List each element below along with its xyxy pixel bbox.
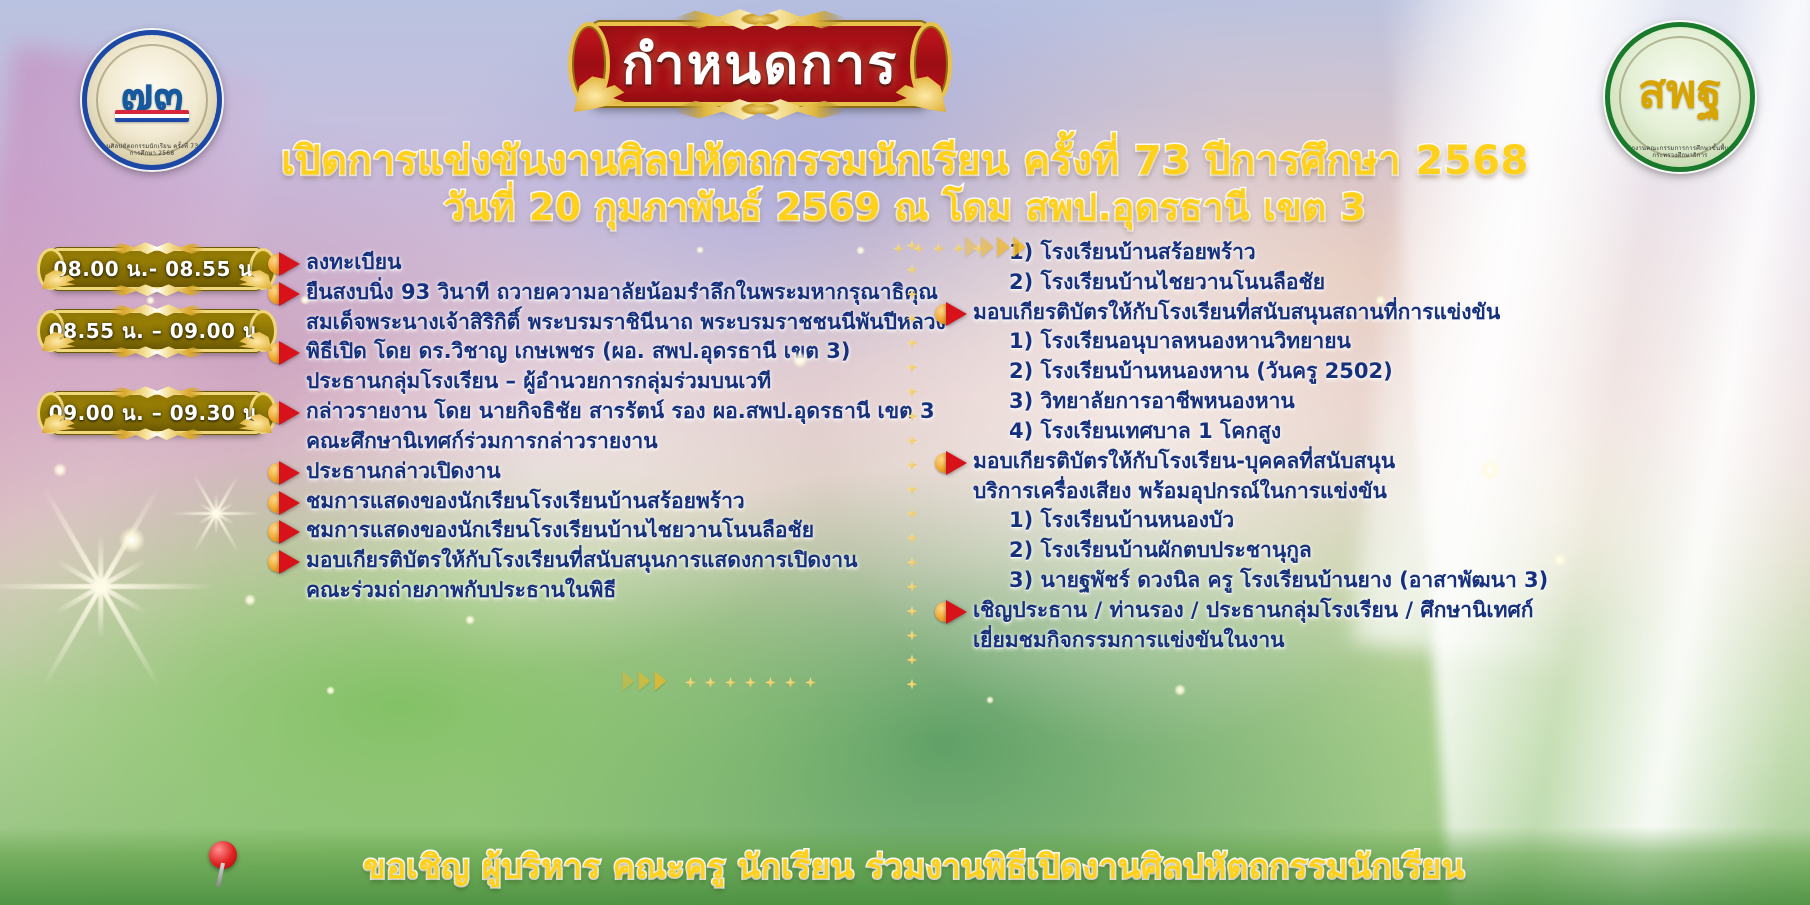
bullet-triangle-icon [279, 491, 300, 515]
agenda-right-item: 1) โรงเรียนอนุบาลหนองหานวิทยายน [935, 327, 1625, 357]
diamond-icon [907, 484, 918, 495]
bullet-triangle-icon [279, 520, 300, 544]
agenda-right-text: 1) โรงเรียนอนุบาลหนองหานวิทยายน [935, 327, 1351, 357]
diamond-icon [705, 677, 716, 688]
agenda-right-item: 2) โรงเรียนบ้านผักตบประชานุกูล [935, 536, 1625, 566]
diamond-row-bottom-icon [685, 677, 816, 688]
agenda-right-text: 2) โรงเรียนบ้านไชยวานโนนลือชัย [935, 268, 1325, 298]
chevron-icon [639, 671, 651, 691]
diamond-icon [907, 435, 918, 446]
agenda-left-column: ลงทะเบียนยืนสงบนิ่ง 93 วินาที ถวายความอา… [268, 248, 898, 606]
page-title: กำหนดการ [560, 14, 960, 114]
diamond-icon [907, 313, 918, 324]
diamond-icon [907, 557, 918, 568]
chevron-icon [1013, 237, 1025, 258]
agenda-left-item: ประธานกล่าวเปิดงาน [268, 457, 898, 487]
agenda-right-column: 1) โรงเรียนบ้านสร้อยพร้าว2) โรงเรียนบ้าน… [935, 238, 1625, 655]
diamond-icon [907, 338, 918, 349]
agenda-right-text: 3) นายฐพัชร์ ดวงนิล ครู โรงเรียนบ้านยาง … [935, 566, 1548, 596]
agenda-left-item: คณะร่วมถ่ายภาพกับประธานในพิธี [268, 576, 898, 606]
footer-invitation-text: ขอเชิญ ผู้บริหาร คณะครู นักเรียน ร่วมงาน… [363, 840, 1465, 893]
diamond-icon [913, 243, 924, 254]
title-plaque: กำหนดการ [560, 14, 960, 114]
agenda-left-item: คณะศึกษานิเทศก์ร่วมการกล่าวรายงาน [268, 427, 898, 457]
agenda-right-text: 4) โรงเรียนเทศบาล 1 โคกสูง [935, 417, 1281, 447]
bullet-triangle-icon [279, 341, 300, 365]
agenda-right-item: เชิญประธาน / ท่านรอง / ประธานกลุ่มโรงเรี… [935, 596, 1625, 626]
diamond-icon [725, 677, 736, 688]
footer-banner: ขอเชิญ ผู้บริหาร คณะครู นักเรียน ร่วมงาน… [0, 827, 1810, 905]
diamond-icon [765, 677, 776, 688]
diamond-row-top-icon [893, 243, 984, 254]
thai-flag-ribbon-icon [115, 110, 189, 122]
agenda-left-item: ลงทะเบียน [268, 248, 898, 278]
bullet-arrow-icon [935, 301, 969, 327]
chevron-icon [655, 671, 667, 691]
diamond-icon [907, 630, 918, 641]
agenda-right-item: 3) วิทยาลัยการอาชีพหนองหาน [935, 387, 1625, 417]
chevron-icon [623, 671, 635, 691]
agenda-left-text: ลงทะเบียน [306, 248, 401, 278]
agenda-left-item: มอบเกียรติบัตรให้กับโรงเรียนที่สนับสนุนก… [268, 546, 898, 576]
agenda-right-item: 2) โรงเรียนบ้านหนองหาน (วันครู 2502) [935, 357, 1625, 387]
diamond-icon [907, 459, 918, 470]
agenda-left-item: ยืนสงบนิ่ง 93 วินาที ถวายความอาลัยน้อมรำ… [268, 278, 898, 308]
agenda-right-item: 4) โรงเรียนเทศบาล 1 โคกสูง [935, 417, 1625, 447]
diamond-icon [907, 606, 918, 617]
bullet-triangle-icon [279, 282, 300, 306]
agenda-right-text: เชิญประธาน / ท่านรอง / ประธานกลุ่มโรงเรี… [973, 596, 1534, 626]
agenda-left-text: ยืนสงบนิ่ง 93 วินาที ถวายความอาลัยน้อมรำ… [306, 278, 938, 308]
bullet-arrow-icon [935, 599, 969, 625]
agenda-left-text: มอบเกียรติบัตรให้กับโรงเรียนที่สนับสนุนก… [306, 546, 857, 576]
agenda-left-text: คณะศึกษานิเทศก์ร่วมการกล่าวรายงาน [268, 427, 658, 457]
bullet-triangle-icon [279, 550, 300, 574]
agenda-right-text: มอบเกียรติบัตรให้กับโรงเรียนที่สนับสนุนส… [973, 298, 1500, 328]
agenda-left-text: พิธีเปิด โดย ดร.วิชาญ เกษเพชร (ผอ. สพป.อ… [306, 337, 850, 367]
diamond-icon [907, 533, 918, 544]
bullet-arrow-icon [268, 549, 302, 575]
diamond-icon [907, 581, 918, 592]
agenda-right-text: บริการเครื่องเสียง พร้อมอุปกรณ์ในการแข่ง… [935, 477, 1387, 507]
agenda-right-text: 2) โรงเรียนบ้านหนองหาน (วันครู 2502) [935, 357, 1393, 387]
diamond-icon [893, 243, 904, 254]
diamond-icon [953, 243, 964, 254]
agenda-left-item: ประธานกลุ่มโรงเรียน – ผู้อำนวยการกลุ่มร่… [268, 367, 898, 397]
agenda-left-text: กล่าวรายงาน โดย นายกิจธิชัย สารรัตน์ รอง… [306, 397, 935, 427]
agenda-right-item: 1) โรงเรียนบ้านสร้อยพร้าว [935, 238, 1625, 268]
agenda-left-text: ชมการแสดงของนักเรียนโรงเรียนบ้านไชยวานโน… [306, 516, 814, 546]
time-badge: 08.00 น.- 08.55 น. [32, 248, 282, 290]
agenda-right-text: มอบเกียรติบัตรให้กับโรงเรียน-บุคคลที่สนั… [973, 447, 1395, 477]
agenda-left-item: พิธีเปิด โดย ดร.วิชาญ เกษเพชร (ผอ. สพป.อ… [268, 337, 898, 367]
diamond-icon [907, 679, 918, 690]
diamond-icon [907, 386, 918, 397]
vertical-diamond-divider [905, 240, 919, 690]
diamond-icon [933, 243, 944, 254]
event-subtitle-line2: วันที่ 20 กุมภาพันธ์ 2569 ณ โดม สพป.อุดร… [0, 178, 1810, 237]
bullet-arrow-icon [268, 519, 302, 545]
bullet-arrow-icon [935, 450, 969, 476]
diamond-icon [785, 677, 796, 688]
agenda-left-text: สมเด็จพระนางเจ้าสิริกิติ์ พระบรมราชินีนา… [268, 308, 946, 338]
agenda-right-item: มอบเกียรติบัตรให้กับโรงเรียน-บุคคลที่สนั… [935, 447, 1625, 477]
agenda-right-text: 2) โรงเรียนบ้านผักตบประชานุกูล [935, 536, 1312, 566]
bullet-triangle-icon [279, 252, 300, 276]
agenda-right-item: มอบเกียรติบัตรให้กับโรงเรียนที่สนับสนุนส… [935, 298, 1625, 328]
bullet-triangle-icon [946, 600, 967, 624]
agenda-right-item: เยี่ยมชมกิจกรรมการแข่งขันในงาน [935, 626, 1625, 656]
agenda-left-item: ชมการแสดงของนักเรียนโรงเรียนบ้านสร้อยพร้… [268, 487, 898, 517]
diamond-icon [907, 654, 918, 665]
diamond-icon [805, 677, 816, 688]
agenda-right-text: 1) โรงเรียนบ้านหนองบัว [935, 506, 1234, 536]
diamond-icon [745, 677, 756, 688]
agenda-left-text: ประธานกลุ่มโรงเรียน – ผู้อำนวยการกลุ่มร่… [268, 367, 771, 397]
bullet-triangle-icon [279, 461, 300, 485]
agenda-left-text: ประธานกล่าวเปิดงาน [306, 457, 501, 487]
agenda-right-item: 3) นายฐพัชร์ ดวงนิล ครู โรงเรียนบ้านยาง … [935, 566, 1625, 596]
chevron-icon [997, 237, 1009, 258]
agenda-left-item: สมเด็จพระนางเจ้าสิริกิติ์ พระบรมราชินีนา… [268, 308, 898, 338]
agenda-left-item: ชมการแสดงของนักเรียนโรงเรียนบ้านไชยวานโน… [268, 516, 898, 546]
diamond-icon [907, 289, 918, 300]
agenda-left-item: กล่าวรายงาน โดย นายกิจธิชัย สารรัตน์ รอง… [268, 397, 898, 427]
bullet-triangle-icon [279, 401, 300, 425]
time-badge: 08.55 น. – 09.00 น. [32, 310, 282, 352]
bullet-triangle-icon [946, 302, 967, 326]
agenda-right-item: 2) โรงเรียนบ้านไชยวานโนนลือชัย [935, 268, 1625, 298]
agenda-right-text: เยี่ยมชมกิจกรรมการแข่งขันในงาน [935, 626, 1285, 656]
bullet-arrow-icon [268, 460, 302, 486]
diamond-icon [907, 362, 918, 373]
chevron-arrows-bottom-icon [622, 670, 667, 692]
diamond-icon [907, 411, 918, 422]
agenda-left-text: คณะร่วมถ่ายภาพกับประธานในพิธี [268, 576, 616, 606]
bullet-arrow-icon [268, 490, 302, 516]
push-pin-icon [205, 841, 241, 887]
agenda-right-item: 1) โรงเรียนบ้านหนองบัว [935, 506, 1625, 536]
agenda-left-text: ชมการแสดงของนักเรียนโรงเรียนบ้านสร้อยพร้… [306, 487, 745, 517]
bullet-triangle-icon [946, 451, 967, 475]
agenda-right-text: 3) วิทยาลัยการอาชีพหนองหาน [935, 387, 1295, 417]
time-badge: 09.00 น. – 09.30 น. [32, 392, 282, 434]
emblem-glyph: สพฐ [1638, 68, 1722, 114]
diamond-icon [685, 677, 696, 688]
poster-canvas: ๗๓ งานศิลปหัตถกรรมนักเรียน ครั้งที่ 73 ป… [0, 0, 1810, 905]
diamond-icon [973, 243, 984, 254]
diamond-icon [907, 508, 918, 519]
agenda-right-item: บริการเครื่องเสียง พร้อมอุปกรณ์ในการแข่ง… [935, 477, 1625, 507]
diamond-icon [907, 264, 918, 275]
